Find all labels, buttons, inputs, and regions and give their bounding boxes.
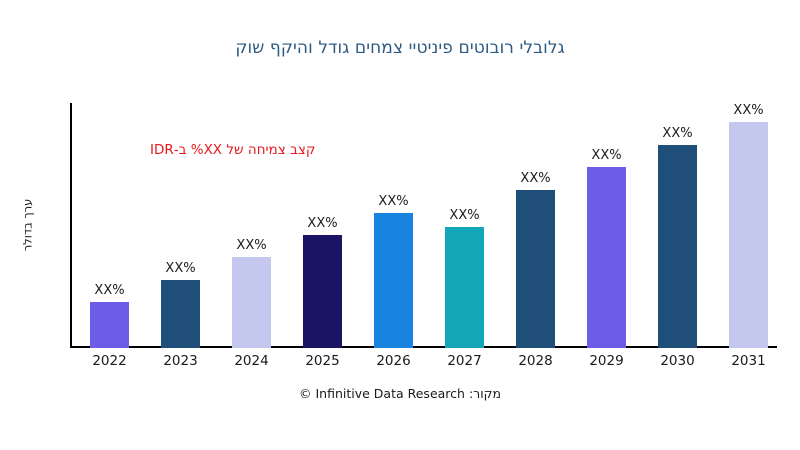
x-tick-2031: 2031 — [713, 353, 784, 369]
x-tick-2028: 2028 — [500, 353, 571, 369]
x-tick-2030: 2030 — [642, 353, 713, 369]
bar-2027[interactable]: XX% — [445, 103, 484, 348]
plot-area: XX%XX%XX%XX%XX%XX%XX%XX%XX%XX% — [70, 103, 780, 348]
bar-value-label-2029: XX% — [591, 148, 621, 163]
bar-2028[interactable]: XX% — [516, 103, 555, 348]
x-tick-2027: 2027 — [429, 353, 500, 369]
bar-rect-2029 — [587, 167, 626, 348]
x-tick-2023: 2023 — [145, 353, 216, 369]
bar-value-label-2030: XX% — [662, 126, 692, 141]
bar-2025[interactable]: XX% — [303, 103, 342, 348]
bar-rect-2026 — [374, 213, 413, 348]
x-tick-2025: 2025 — [287, 353, 358, 369]
bar-2031[interactable]: XX% — [729, 103, 768, 348]
bar-2029[interactable]: XX% — [587, 103, 626, 348]
source-caption: מקור: Infinitive Data Research © — [0, 386, 800, 401]
bar-rect-2025 — [303, 235, 342, 348]
bar-value-label-2028: XX% — [520, 171, 550, 186]
chart-figure: גלובלי רובוטים פיניטיי צמחים גודל והיקף … — [0, 0, 800, 450]
y-axis-label-container: ערך בדולר — [12, 100, 42, 350]
bar-value-label-2023: XX% — [165, 261, 195, 276]
x-tick-2029: 2029 — [571, 353, 642, 369]
x-tick-2024: 2024 — [216, 353, 287, 369]
bar-rect-2031 — [729, 122, 768, 348]
x-axis-tick-labels: 2022202320242025202620272028202920302031 — [70, 353, 780, 377]
bar-rect-2028 — [516, 190, 555, 348]
bar-value-label-2022: XX% — [94, 283, 124, 298]
y-axis-label: ערך בדולר — [20, 199, 34, 252]
bar-rect-2030 — [658, 145, 697, 348]
bar-rect-2022 — [90, 302, 129, 348]
bar-rect-2027 — [445, 227, 484, 348]
bar-series: XX%XX%XX%XX%XX%XX%XX%XX%XX%XX% — [70, 103, 780, 348]
x-tick-2026: 2026 — [358, 353, 429, 369]
page-title: גלובלי רובוטים פיניטיי צמחים גודל והיקף … — [0, 38, 800, 58]
bar-rect-2023 — [161, 280, 200, 348]
x-tick-2022: 2022 — [74, 353, 145, 369]
bar-2022[interactable]: XX% — [90, 103, 129, 348]
bar-value-label-2025: XX% — [307, 216, 337, 231]
bar-2026[interactable]: XX% — [374, 103, 413, 348]
bar-value-label-2024: XX% — [236, 238, 266, 253]
bar-value-label-2027: XX% — [449, 208, 479, 223]
bar-rect-2024 — [232, 257, 271, 348]
bar-2024[interactable]: XX% — [232, 103, 271, 348]
bar-value-label-2026: XX% — [378, 194, 408, 209]
bar-2023[interactable]: XX% — [161, 103, 200, 348]
bar-2030[interactable]: XX% — [658, 103, 697, 348]
bar-value-label-2031: XX% — [733, 103, 763, 118]
